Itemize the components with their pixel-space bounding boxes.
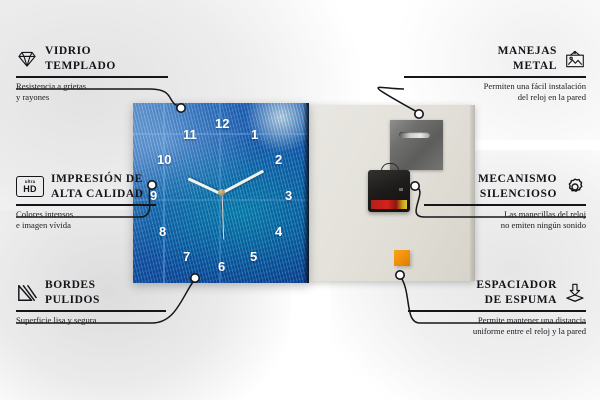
clock-numeral-3: 3 [285, 189, 292, 202]
mechanism-red-label [371, 200, 407, 209]
clock-numeral-7: 7 [183, 250, 190, 263]
callout-mecanismo-silencioso: MECANISMO SILENCIOSO Las manecillas del … [424, 172, 586, 232]
callout-subtitle: Resistencia a grietas y rayones [16, 81, 196, 104]
callout-impresion-alta-calidad: ultra HD IMPRESIÓN DE ALTA CALIDAD Color… [16, 172, 206, 232]
clock-numeral-6: 6 [218, 260, 225, 273]
callout-bordes-pulidos: BORDES PULIDOS Superficie lisa y segura [16, 278, 206, 326]
callout-manejas-metal: MANEJAS METAL Permiten una fácil instala… [404, 44, 586, 104]
callout-subtitle: Permiten una fácil instalación del reloj… [404, 81, 586, 104]
clock-numeral-12: 12 [215, 117, 229, 130]
callout-title: MECANISMO SILENCIOSO [478, 172, 557, 201]
callout-rule [16, 204, 156, 206]
callout-rule [408, 310, 586, 312]
callout-rule [404, 76, 586, 78]
callout-header: MANEJAS METAL [404, 44, 586, 73]
callout-header: MECANISMO SILENCIOSO [424, 172, 586, 201]
callout-header: BORDES PULIDOS [16, 278, 206, 307]
clock-numeral-11: 11 [183, 128, 197, 141]
polished-edges-icon [16, 283, 38, 303]
callout-title: VIDRIO TEMPLADO [45, 44, 116, 73]
clock-numeral-5: 5 [250, 250, 257, 263]
callout-espaciador-espuma: ESPACIADOR DE ESPUMA Permite mantener un… [408, 278, 586, 338]
clock-numeral-4: 4 [275, 225, 282, 238]
foam-spacer-icon [564, 283, 586, 303]
callout-subtitle: Permite mantener una distancia uniforme … [408, 315, 586, 338]
callout-title: ESPACIADOR DE ESPUMA [476, 278, 557, 307]
callout-vidrio-templado: VIDRIO TEMPLADO Resistencia a grietas y … [16, 44, 196, 104]
gear-icon [564, 177, 586, 197]
clock-numeral-2: 2 [275, 153, 282, 166]
callout-subtitle: Superficie lisa y segura [16, 315, 206, 326]
callout-header: ESPACIADOR DE ESPUMA [408, 278, 586, 307]
clock-center-pin [218, 189, 225, 196]
infographic-canvas: 12 1 2 3 4 5 6 7 8 9 10 11 [0, 0, 600, 400]
wall-frame-icon [564, 49, 586, 69]
callout-rule [424, 204, 586, 206]
hanger-slot [399, 132, 430, 138]
callout-title: IMPRESIÓN DE ALTA CALIDAD [51, 172, 144, 201]
callout-title: BORDES PULIDOS [45, 278, 100, 307]
ultra-hd-icon: ultra HD [16, 176, 44, 197]
mechanism-detail-dot [399, 188, 403, 191]
metal-hanger-plate [390, 120, 443, 170]
callout-title: MANEJAS METAL [498, 44, 557, 73]
callout-header: VIDRIO TEMPLADO [16, 44, 196, 73]
callout-subtitle: Las manecillas del reloj no emiten ningú… [424, 209, 586, 232]
clock-numeral-1: 1 [251, 128, 258, 141]
clock-numeral-10: 10 [157, 153, 171, 166]
callout-rule [16, 310, 166, 312]
callout-subtitle: Colores intensos e imagen vívida [16, 209, 206, 232]
diamond-icon [16, 49, 38, 69]
callout-rule [16, 76, 168, 78]
callout-header: ultra HD IMPRESIÓN DE ALTA CALIDAD [16, 172, 206, 201]
foam-spacer-pad [394, 250, 410, 266]
